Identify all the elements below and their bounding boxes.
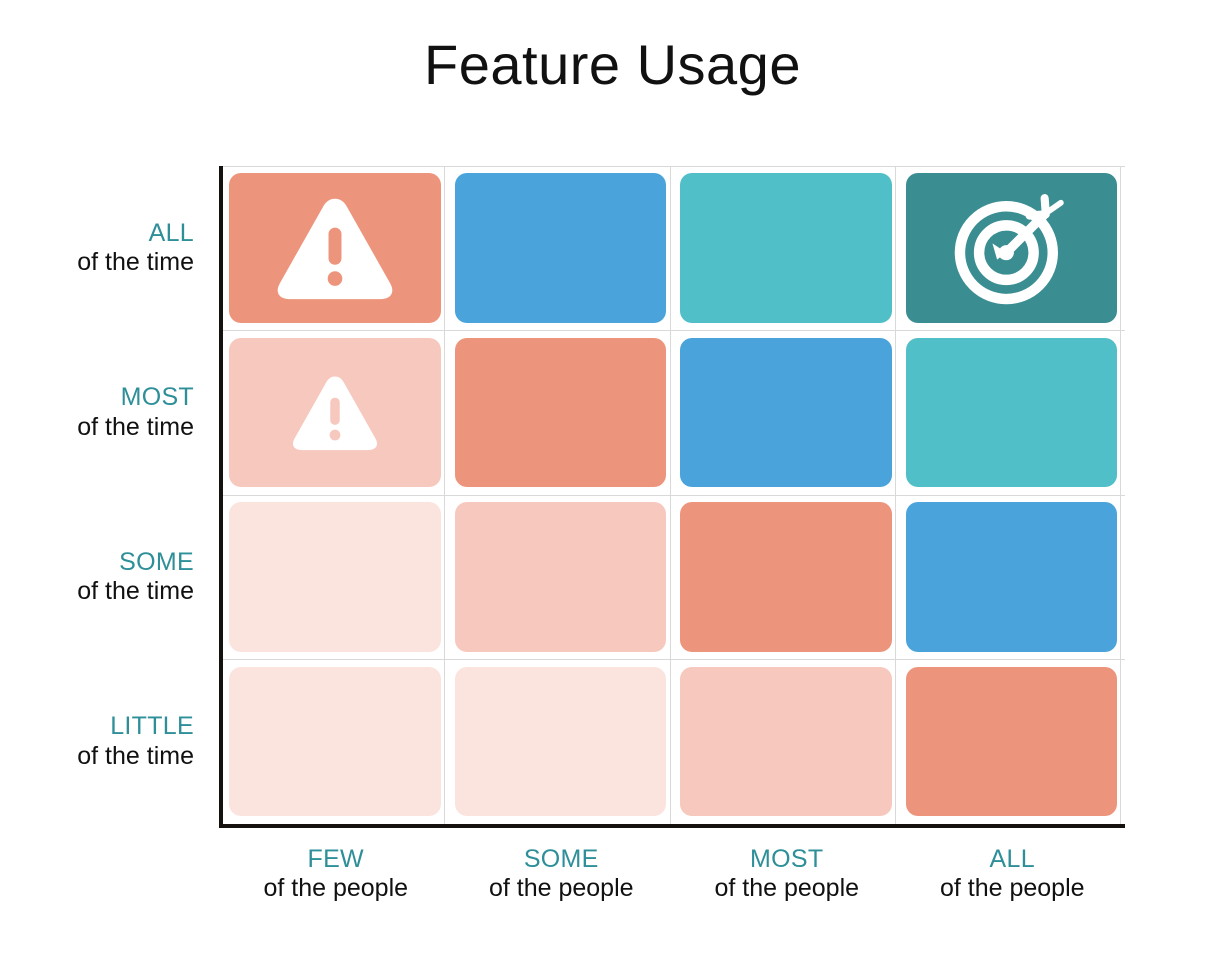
x-axis-label-key: SOME <box>524 845 599 875</box>
matrix-cell-box-little-some[interactable] <box>455 667 667 817</box>
matrix-cell-box-most-all[interactable] <box>906 338 1118 488</box>
matrix-cell-box-little-all[interactable] <box>906 667 1118 817</box>
matrix-cell[interactable] <box>900 660 1126 825</box>
matrix-cell-box-most-some[interactable] <box>455 338 667 488</box>
x-axis-line <box>219 824 1125 828</box>
y-axis-label-little: LITTLE of the time <box>0 660 196 825</box>
matrix-cell-box-all-most[interactable] <box>680 173 892 323</box>
matrix-cell[interactable] <box>223 660 449 825</box>
y-axis-label-key: ALL <box>149 219 194 249</box>
matrix-cell-box-little-few[interactable] <box>229 667 441 817</box>
y-axis-label-sub: of the time <box>77 577 194 607</box>
matrix-cell[interactable] <box>900 495 1126 660</box>
x-axis-label-key: FEW <box>308 845 364 875</box>
matrix-cell-box-most-few[interactable] <box>229 338 441 488</box>
y-axis-label-key: MOST <box>121 383 194 413</box>
matrix-cell-grid <box>223 166 1125 824</box>
x-axis-label-sub: of the people <box>940 874 1085 904</box>
warning-triangle-icon <box>291 373 379 452</box>
matrix-cell-box-some-most[interactable] <box>680 502 892 652</box>
warning-triangle-icon <box>275 194 395 302</box>
y-axis-label-all: ALL of the time <box>0 166 196 331</box>
x-axis-label-all: ALL of the people <box>900 838 1126 910</box>
matrix-cell[interactable] <box>223 166 449 331</box>
x-axis-label-sub: of the people <box>714 874 859 904</box>
target-bullseye-icon <box>953 190 1069 306</box>
matrix-cell-box-all-all[interactable] <box>906 173 1118 323</box>
matrix-chart-plot-area <box>219 166 1125 828</box>
matrix-cell[interactable] <box>674 331 900 496</box>
y-axis-label-most: MOST of the time <box>0 331 196 496</box>
matrix-cell-box-most-most[interactable] <box>680 338 892 488</box>
matrix-cell[interactable] <box>449 495 675 660</box>
matrix-cell-box-some-all[interactable] <box>906 502 1118 652</box>
x-axis-label-sub: of the people <box>263 874 408 904</box>
matrix-cell-box-some-some[interactable] <box>455 502 667 652</box>
matrix-cell[interactable] <box>674 166 900 331</box>
x-axis-label-most: MOST of the people <box>674 838 900 910</box>
x-axis-label-sub: of the people <box>489 874 634 904</box>
y-axis-label-group: ALL of the time MOST of the time SOME of… <box>0 166 196 824</box>
y-axis-label-sub: of the time <box>77 742 194 772</box>
x-axis-label-some: SOME of the people <box>449 838 675 910</box>
y-axis-label-sub: of the time <box>77 413 194 443</box>
matrix-cell[interactable] <box>223 331 449 496</box>
matrix-cell[interactable] <box>674 495 900 660</box>
page-title: Feature Usage <box>0 34 1225 96</box>
matrix-cell-box-little-most[interactable] <box>680 667 892 817</box>
y-axis-line <box>219 166 223 828</box>
matrix-cell-box-some-few[interactable] <box>229 502 441 652</box>
matrix-cell-box-all-few[interactable] <box>229 173 441 323</box>
matrix-cell[interactable] <box>449 660 675 825</box>
matrix-cell[interactable] <box>674 660 900 825</box>
x-axis-label-key: ALL <box>990 845 1035 875</box>
matrix-cell[interactable] <box>449 166 675 331</box>
x-axis-label-key: MOST <box>750 845 823 875</box>
y-axis-label-some: SOME of the time <box>0 495 196 660</box>
matrix-cell[interactable] <box>900 166 1126 331</box>
matrix-cell-box-all-some[interactable] <box>455 173 667 323</box>
y-axis-label-key: SOME <box>119 548 194 578</box>
matrix-cell[interactable] <box>223 495 449 660</box>
x-axis-label-group: FEW of the people SOME of the people MOS… <box>223 838 1125 910</box>
x-axis-label-few: FEW of the people <box>223 838 449 910</box>
matrix-cell[interactable] <box>449 331 675 496</box>
y-axis-label-sub: of the time <box>77 248 194 278</box>
matrix-cell[interactable] <box>900 331 1126 496</box>
y-axis-label-key: LITTLE <box>110 712 194 742</box>
